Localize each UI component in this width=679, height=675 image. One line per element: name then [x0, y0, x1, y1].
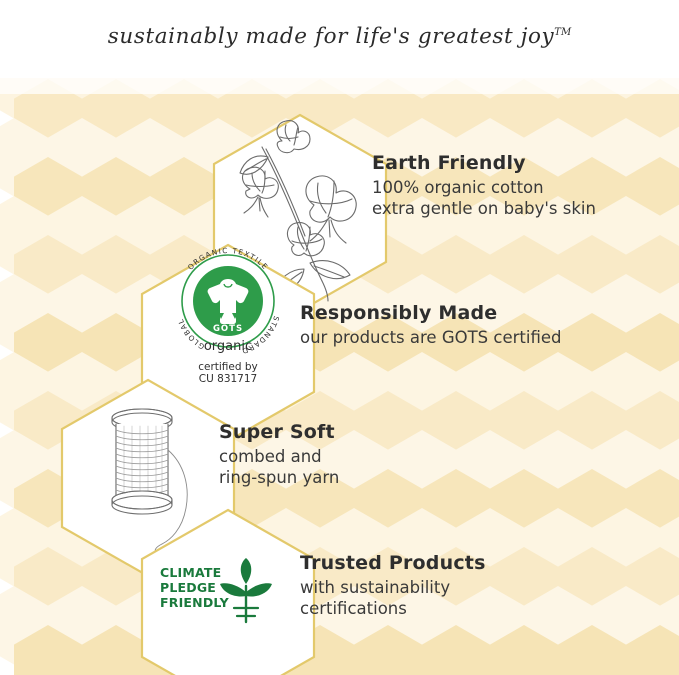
- page-title: sustainably made for life's greatest joy…: [0, 24, 679, 49]
- feature-text-responsibly-made: Responsibly Made our products are GOTS c…: [300, 302, 561, 348]
- promo-infographic: sustainably made for life's greatest joy…: [0, 0, 679, 675]
- feature-text-trusted-products: Trusted Products with sustainability cer…: [300, 552, 486, 619]
- trademark-symbol: TM: [554, 27, 571, 38]
- feature-text-super-soft: Super Soft combed and ring-spun yarn: [219, 421, 339, 488]
- feature-title: Responsibly Made: [300, 302, 561, 324]
- cpf-line-climate: CLIMATE: [160, 566, 229, 581]
- headline-text: sustainably made for life's greatest joy: [108, 24, 555, 49]
- svg-text:GOTS: GOTS: [213, 324, 243, 334]
- hex-frame-trusted-products: CLIMATE PLEDGE FRIENDLY: [138, 508, 318, 675]
- feature-line: extra gentle on baby's skin: [372, 198, 596, 219]
- gots-caption-organic: organic: [138, 339, 318, 354]
- cpf-line-friendly: FRIENDLY: [160, 596, 229, 611]
- gots-certified-by-label: certified by: [138, 361, 318, 373]
- feature-line: our products are GOTS certified: [300, 327, 561, 348]
- feature-title: Earth Friendly: [372, 152, 596, 174]
- feature-title: Trusted Products: [300, 552, 486, 574]
- feature-line: combed and: [219, 446, 339, 467]
- cpf-line-pledge: PLEDGE: [160, 581, 229, 596]
- feature-line: certifications: [300, 598, 486, 619]
- feature-line: with sustainability: [300, 577, 486, 598]
- feature-text-earth-friendly: Earth Friendly 100% organic cotton extra…: [372, 152, 596, 219]
- feature-title: Super Soft: [219, 421, 339, 443]
- feature-line: ring-spun yarn: [219, 467, 339, 488]
- feature-line: 100% organic cotton: [372, 177, 596, 198]
- climate-pledge-friendly-label: CLIMATE PLEDGE FRIENDLY: [160, 566, 229, 610]
